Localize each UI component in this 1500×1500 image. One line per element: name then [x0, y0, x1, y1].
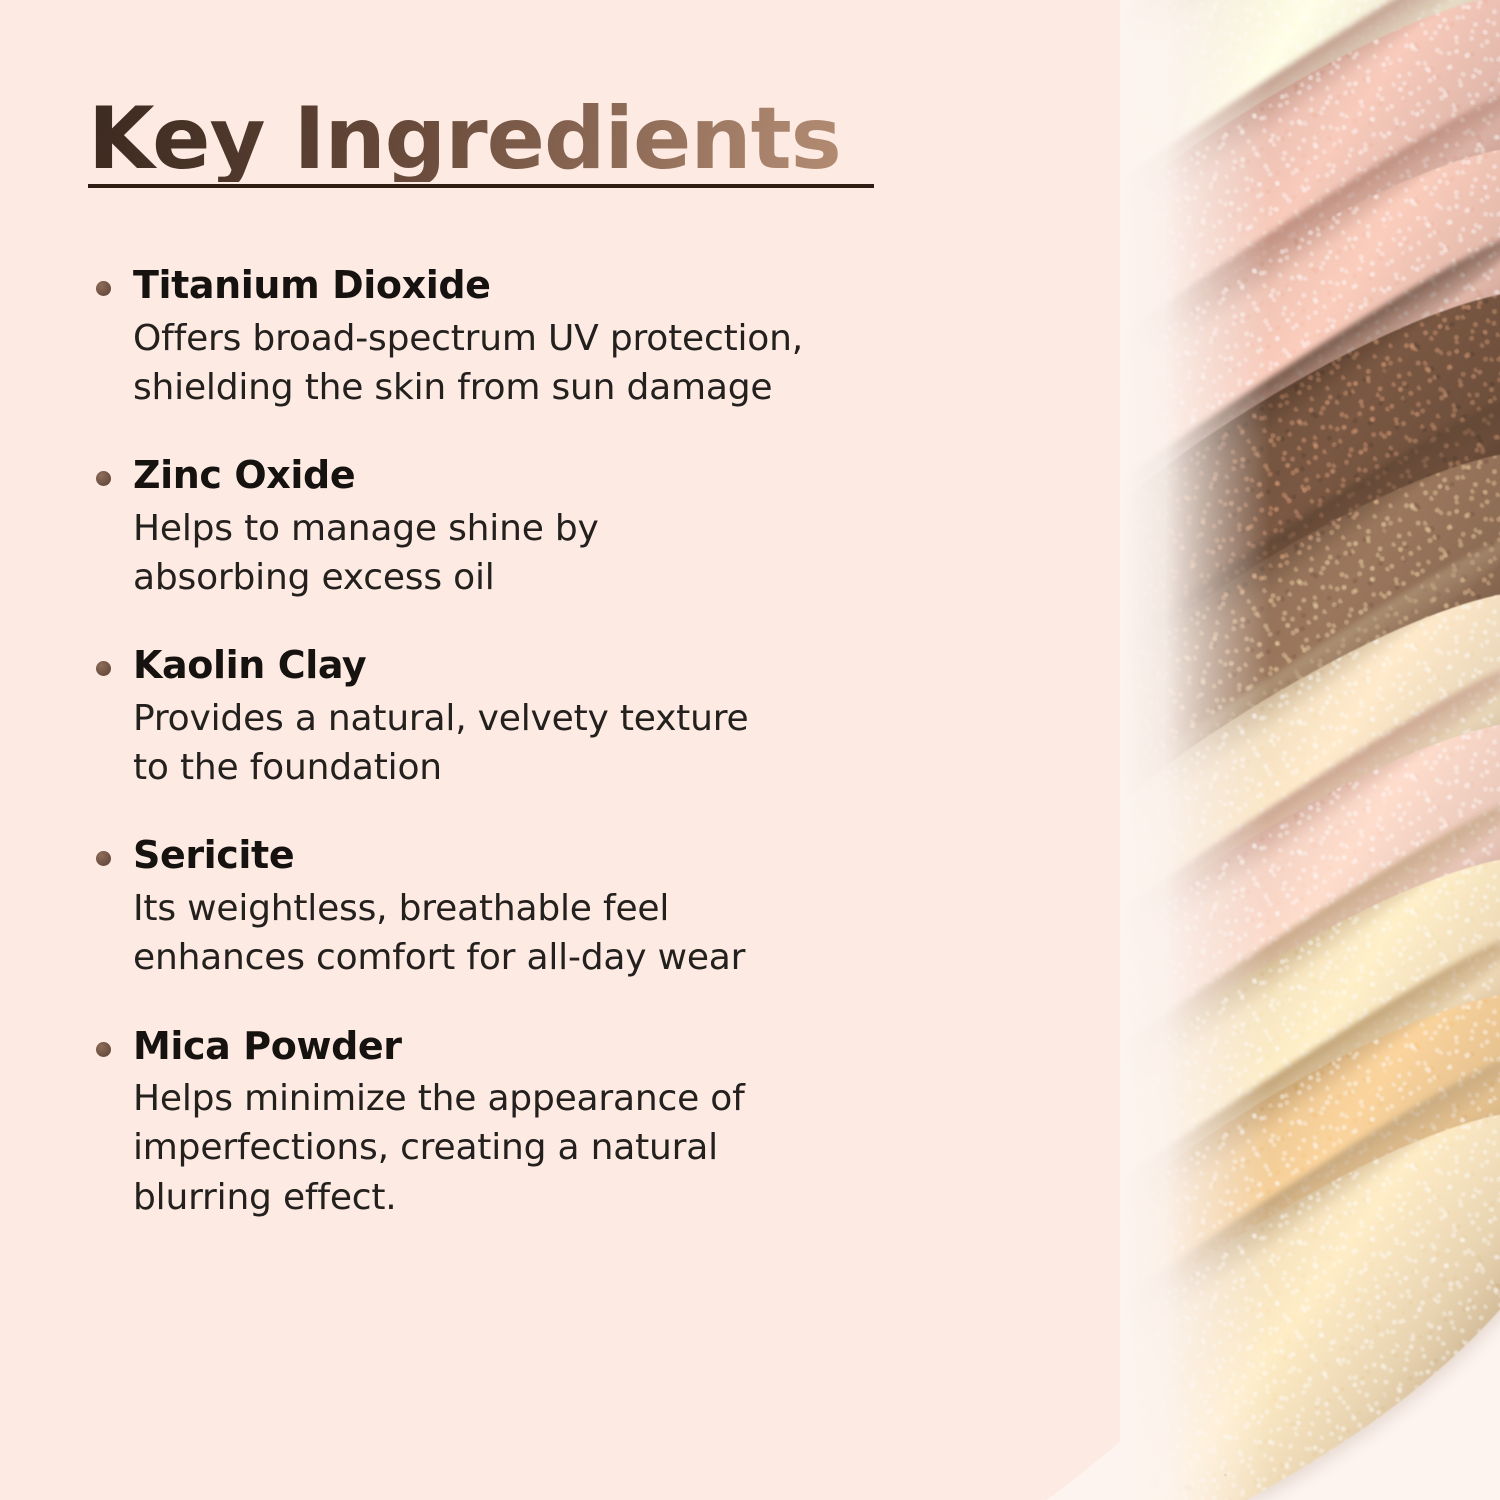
page-title: Key Ingredients: [88, 96, 888, 182]
bullet-dot-icon: [96, 281, 111, 296]
ingredient-item: Titanium DioxideOffers broad-spectrum UV…: [88, 262, 948, 412]
ingredient-item: Kaolin ClayProvides a natural, velvety t…: [88, 642, 948, 792]
title-block: Key Ingredients: [88, 96, 888, 182]
ingredient-item: Zinc OxideHelps to manage shine by absor…: [88, 452, 948, 602]
powder-particle: [1184, 1484, 1192, 1491]
powder-swatch-photo: [1120, 0, 1500, 1500]
ingredient-name: Titanium Dioxide: [133, 262, 948, 310]
ingredient-list: Titanium DioxideOffers broad-spectrum UV…: [88, 262, 948, 1222]
ingredient-description: Provides a natural, velvety texture to t…: [133, 694, 948, 793]
powder-particle: [1149, 1479, 1159, 1488]
bullet-dot-icon: [96, 1042, 111, 1057]
ingredient-name: Mica Powder: [133, 1023, 948, 1071]
ingredient-description: Its weightless, breathable feel enhances…: [133, 884, 948, 983]
ingredient-description: Helps to manage shine by absorbing exces…: [133, 504, 948, 603]
bullet-dot-icon: [96, 661, 111, 676]
text-column: Key Ingredients Titanium DioxideOffers b…: [0, 0, 1000, 1500]
ingredient-item: Mica PowderHelps minimize the appearance…: [88, 1023, 948, 1222]
infographic-page: Key Ingredients Titanium DioxideOffers b…: [0, 0, 1500, 1500]
ingredient-name: Zinc Oxide: [133, 452, 948, 500]
ingredient-name: Sericite: [133, 832, 948, 880]
bullet-dot-icon: [96, 851, 111, 866]
bullet-dot-icon: [96, 471, 111, 486]
ingredient-description: Offers broad-spectrum UV protection, shi…: [133, 314, 948, 413]
ingredient-item: SericiteIts weightless, breathable feel …: [88, 832, 948, 982]
ingredient-name: Kaolin Clay: [133, 642, 948, 690]
ingredient-description: Helps minimize the appearance of imperfe…: [133, 1074, 948, 1222]
powder-particle: [1224, 1474, 1227, 1476]
title-underline: [88, 184, 874, 188]
